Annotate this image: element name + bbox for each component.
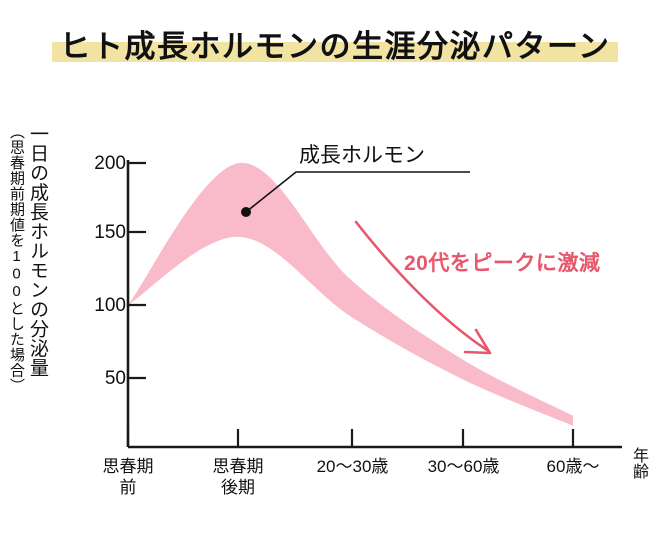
title-text: ヒト成長ホルモンの生涯分泌パターン — [60, 29, 611, 64]
chart-page: ヒト成長ホルモンの生涯分泌パターン 一日の成長ホルモンの分泌量 （思春期前期値を… — [0, 0, 670, 544]
series-label-growth-hormone: 成長ホルモン — [299, 139, 425, 169]
title-inner: ヒト成長ホルモンの生涯分泌パターン — [52, 26, 619, 68]
callout-peak-decline: 20代をピークに激減 — [404, 247, 600, 277]
gh-secretion-band — [128, 163, 573, 426]
decline-arrow-icon — [356, 222, 490, 353]
